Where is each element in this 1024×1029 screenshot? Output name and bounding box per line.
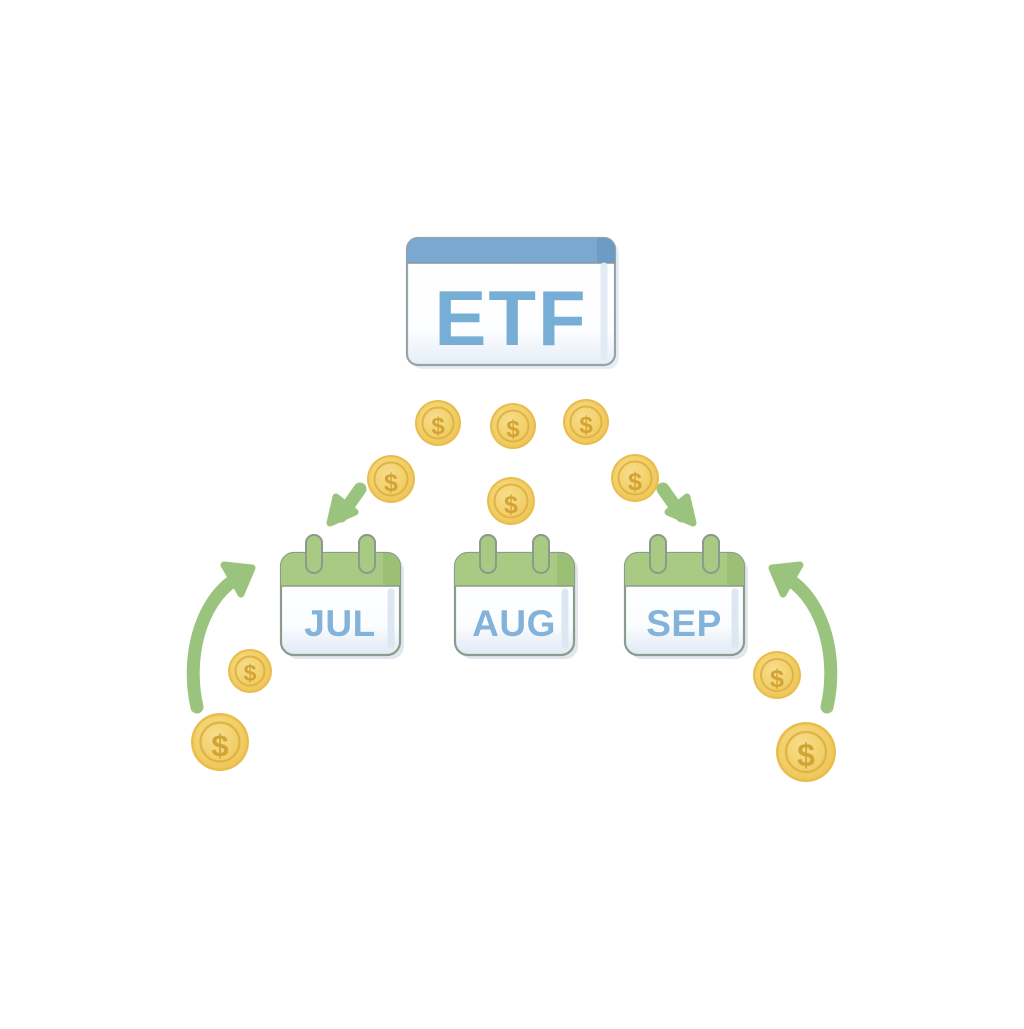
- arrow-into-jul-icon: [330, 489, 360, 523]
- coin-symbol: $: [244, 660, 257, 686]
- arrow-into-sep-icon: [663, 489, 693, 523]
- coin-symbol: $: [211, 728, 228, 763]
- coin-symbol: $: [628, 468, 642, 496]
- calendar-jul-label: JUL: [304, 603, 375, 644]
- calendar-sep[interactable]: SEP: [625, 535, 748, 659]
- calendar-jul[interactable]: JUL: [281, 535, 404, 659]
- coin-top-left-inner: $: [415, 400, 461, 446]
- coin-bottom-right-upper: $: [753, 651, 801, 699]
- coin-top-right-outer: $: [611, 454, 659, 502]
- coin-symbol: $: [504, 491, 518, 519]
- calendar-jul-header-band: [281, 553, 400, 586]
- coin-bottom-right-lower: $: [776, 722, 836, 782]
- coin-symbol: $: [579, 412, 593, 439]
- calendar-aug-label: AUG: [472, 603, 556, 644]
- illustration-canvas: ETF $ $ $ $: [0, 0, 1024, 1024]
- calendar-sep-header-band: [625, 553, 744, 586]
- coin-symbol: $: [797, 737, 815, 773]
- calendar-sep-label: SEP: [646, 603, 722, 644]
- etf-card-header-band: [407, 238, 615, 263]
- calendar-aug[interactable]: AUG: [455, 535, 578, 659]
- etf-card-label: ETF: [434, 274, 587, 362]
- coin-symbol: $: [431, 413, 445, 440]
- etf-card[interactable]: ETF: [407, 238, 619, 369]
- coin-symbol: $: [770, 665, 784, 693]
- coin-symbol: $: [384, 469, 398, 497]
- coin-symbol: $: [506, 416, 520, 443]
- coin-bottom-left-upper: $: [228, 649, 272, 693]
- coin-top-right-inner: $: [563, 399, 609, 445]
- coin-bottom-left-lower: $: [191, 713, 249, 771]
- coin-top-center-lower: $: [487, 477, 535, 525]
- etf-dividend-illustration: ETF $ $ $ $: [0, 0, 1024, 1024]
- calendar-aug-header-band: [455, 553, 574, 586]
- coin-top-center-upper: $: [490, 403, 536, 449]
- coin-top-left-outer: $: [367, 455, 415, 503]
